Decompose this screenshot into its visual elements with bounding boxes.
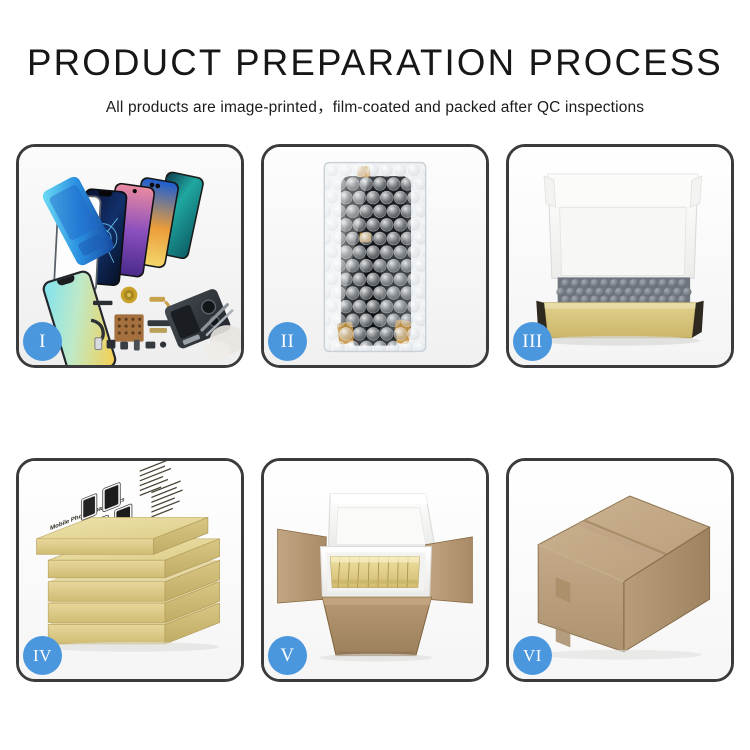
process-step-grid: I [16, 144, 734, 682]
process-step-6: VI [506, 458, 734, 682]
badge-step-5: V [268, 636, 307, 675]
process-step-1: I [16, 144, 244, 368]
process-step-3: III [506, 144, 734, 368]
badge-step-6: VI [513, 636, 552, 675]
product-preparation-infographic: PRODUCT PREPARATION PROCESS All products… [0, 0, 750, 750]
process-step-5: V [261, 458, 489, 682]
header: PRODUCT PREPARATION PROCESS All products… [0, 0, 750, 117]
page-title: PRODUCT PREPARATION PROCESS [4, 0, 747, 84]
page-subtitle: All products are image-printed，film-coat… [0, 84, 750, 117]
process-step-2: II [261, 144, 489, 368]
badge-step-3: III [513, 322, 552, 361]
process-step-4: Mobile Phone Spare Parts [16, 458, 244, 682]
badge-step-1: I [23, 322, 62, 361]
badge-step-4: IV [23, 636, 62, 675]
badge-step-2: II [268, 322, 307, 361]
